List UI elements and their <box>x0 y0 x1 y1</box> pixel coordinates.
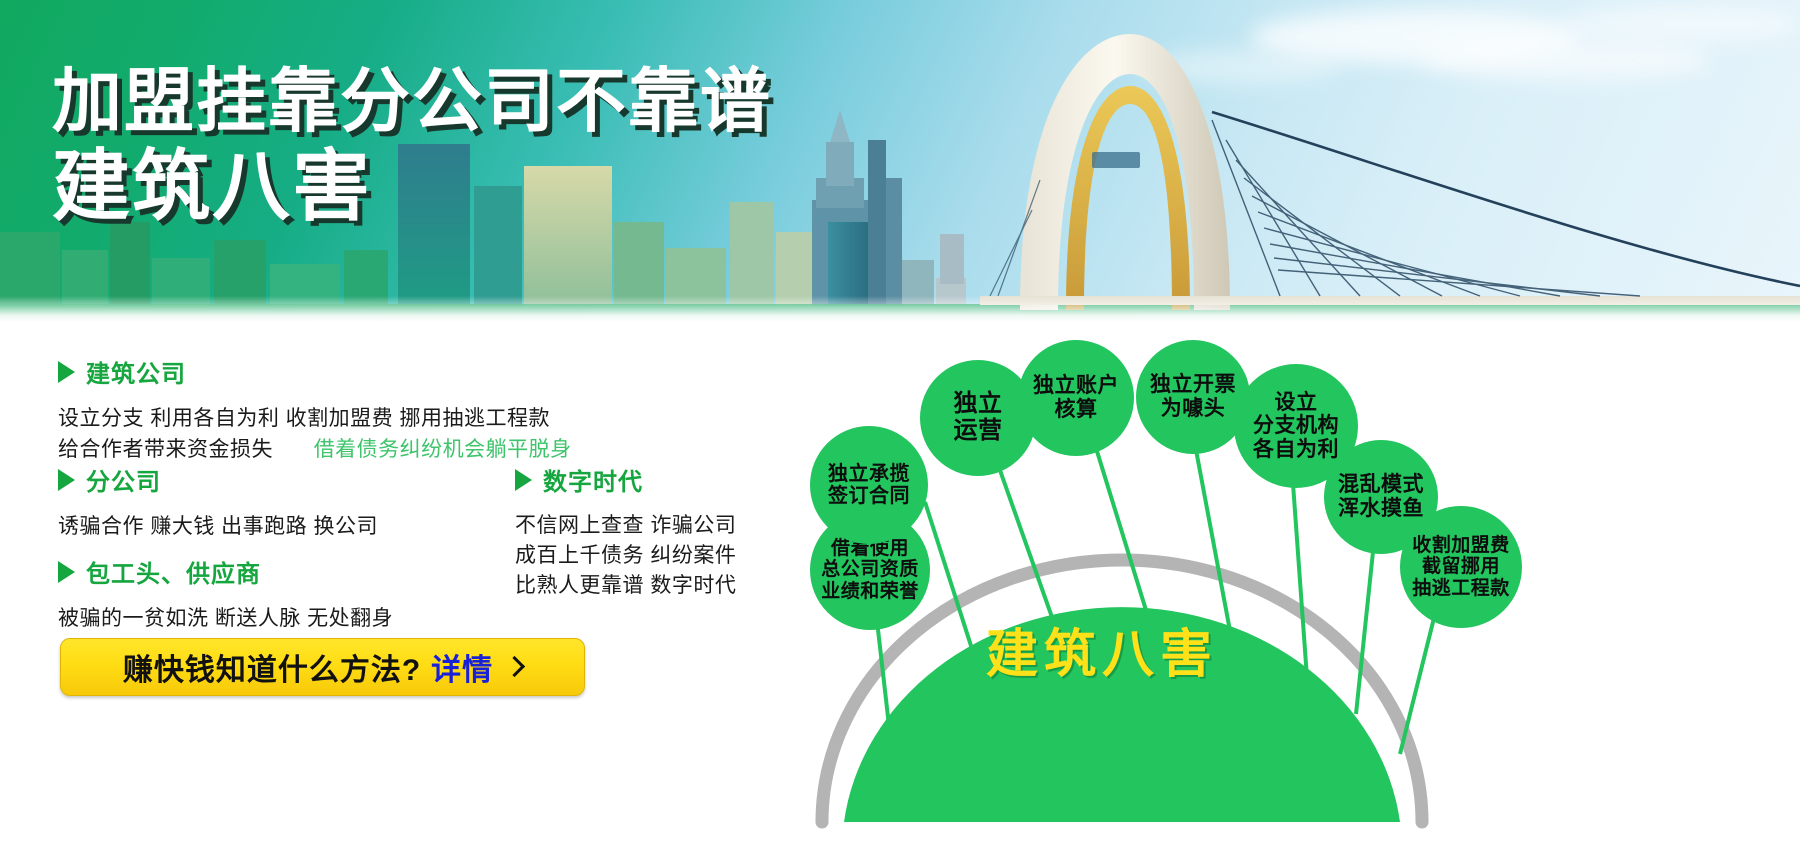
cta-detail-link[interactable]: 详情 <box>431 645 493 689</box>
dome-center-label: 建筑八害 <box>986 612 1218 687</box>
bubble-line: 抽逃工程款 <box>1412 578 1510 599</box>
bubble-item: 收割加盟费 截留挪用 抽逃工程款 <box>1400 506 1522 628</box>
section-line: 不信网上查查 诈骗公司 <box>515 511 736 541</box>
section-body: 设立分支 利用各自为利 收割加盟费 挪用抽逃工程款 给合作者带来资金损失 借着债… <box>58 403 572 465</box>
eight-harms-diagram: 借着使用 总公司资质 业绩和荣誉 独立承揽 签订合同 独立 运营 独立账户 核算… <box>800 322 1800 844</box>
section-heading: 数字时代 <box>515 462 736 497</box>
section-heading: 分公司 <box>58 462 378 497</box>
section-line-black: 给合作者带来资金损失 <box>58 438 273 461</box>
section-body: 诱骗合作 赚大钱 出事跑路 换公司 <box>58 511 378 542</box>
section-body: 不信网上查查 诈骗公司 成百上千债务 纠纷案件 比熟人更靠谱 数字时代 <box>515 511 736 601</box>
hero-bottom-fade <box>0 296 1800 322</box>
cta-button[interactable]: 赚快钱知道什么方法? 详情 <box>60 638 585 696</box>
section-heading-label: 建筑公司 <box>86 354 186 389</box>
bubble-line: 独立开票 <box>1150 373 1236 397</box>
section-line: 被骗的一贫如洗 断送人脉 无处翻身 <box>58 603 393 634</box>
section-heading-label: 分公司 <box>86 462 161 497</box>
section-line: 设立分支 利用各自为利 收割加盟费 挪用抽逃工程款 <box>58 403 572 434</box>
section-line: 诱骗合作 赚大钱 出事跑路 换公司 <box>58 511 378 542</box>
section-body: 被骗的一贫如洗 断送人脉 无处翻身 <box>58 603 393 634</box>
bubble-line: 独立承揽 <box>828 463 910 485</box>
hero-banner: 加盟挂靠分公司不靠谱 建筑八害 <box>0 0 1800 322</box>
bubble-line: 浑水摸鱼 <box>1338 497 1424 521</box>
bubble-item: 独立 运营 <box>920 360 1036 476</box>
triangle-bullet-icon <box>58 561 75 583</box>
bubble-line: 业绩和荣誉 <box>821 581 919 602</box>
section-line-green: 借着债务纠纷机会躺平脱身 <box>314 438 572 461</box>
cta-label: 赚快钱知道什么方法? <box>123 645 421 689</box>
bubble-line: 为噱头 <box>1150 397 1236 421</box>
section-foreman-supplier: 包工头、供应商 被骗的一贫如洗 断送人脉 无处翻身 <box>58 554 393 634</box>
bubble-line: 总公司资质 <box>821 559 919 580</box>
hero-title-line2: 建筑八害 <box>52 140 772 232</box>
bubble-item: 独立开票 为噱头 <box>1136 340 1250 454</box>
bubble-line: 签订合同 <box>828 485 910 507</box>
section-building-company: 建筑公司 设立分支 利用各自为利 收割加盟费 挪用抽逃工程款 给合作者带来资金损… <box>58 354 572 465</box>
bubble-line: 截留挪用 <box>1412 556 1510 577</box>
bubble-line: 分支机构 <box>1253 414 1339 438</box>
section-branch-company: 分公司 诱骗合作 赚大钱 出事跑路 换公司 <box>58 462 378 542</box>
triangle-bullet-icon <box>58 469 75 491</box>
bubble-line: 核算 <box>1033 398 1119 422</box>
bubble-line: 运营 <box>954 418 1003 445</box>
bubble-item: 独立账户 核算 <box>1018 340 1134 456</box>
bubble-item: 独立承揽 签订合同 <box>810 426 928 544</box>
bridge-illustration <box>980 0 1800 322</box>
section-heading-label: 包工头、供应商 <box>86 554 261 589</box>
section-line: 给合作者带来资金损失 借着债务纠纷机会躺平脱身 <box>58 434 572 465</box>
bubble-line: 各自为利 <box>1253 438 1339 462</box>
triangle-bullet-icon <box>515 469 532 491</box>
bubble-line: 设立 <box>1253 391 1339 415</box>
hero-title-line1: 加盟挂靠分公司不靠谱 <box>52 62 772 140</box>
chevron-right-icon <box>504 655 525 676</box>
section-line: 成百上千债务 纠纷案件 <box>515 541 736 571</box>
section-digital-era: 数字时代 不信网上查查 诈骗公司 成百上千债务 纠纷案件 比熟人更靠谱 数字时代 <box>515 462 736 601</box>
triangle-bullet-icon <box>58 361 75 383</box>
hero-title: 加盟挂靠分公司不靠谱 建筑八害 <box>52 62 772 232</box>
section-heading: 建筑公司 <box>58 354 572 389</box>
bubble-line: 独立 <box>954 391 1003 418</box>
section-heading-label: 数字时代 <box>543 462 643 497</box>
bubble-line: 收割加盟费 <box>1412 535 1510 556</box>
section-line: 比熟人更靠谱 数字时代 <box>515 571 736 601</box>
section-heading: 包工头、供应商 <box>58 554 393 589</box>
left-content: 建筑公司 设立分支 利用各自为利 收割加盟费 挪用抽逃工程款 给合作者带来资金损… <box>0 322 800 844</box>
bubble-line: 混乱模式 <box>1338 473 1424 497</box>
bubble-line: 独立账户 <box>1033 374 1119 398</box>
